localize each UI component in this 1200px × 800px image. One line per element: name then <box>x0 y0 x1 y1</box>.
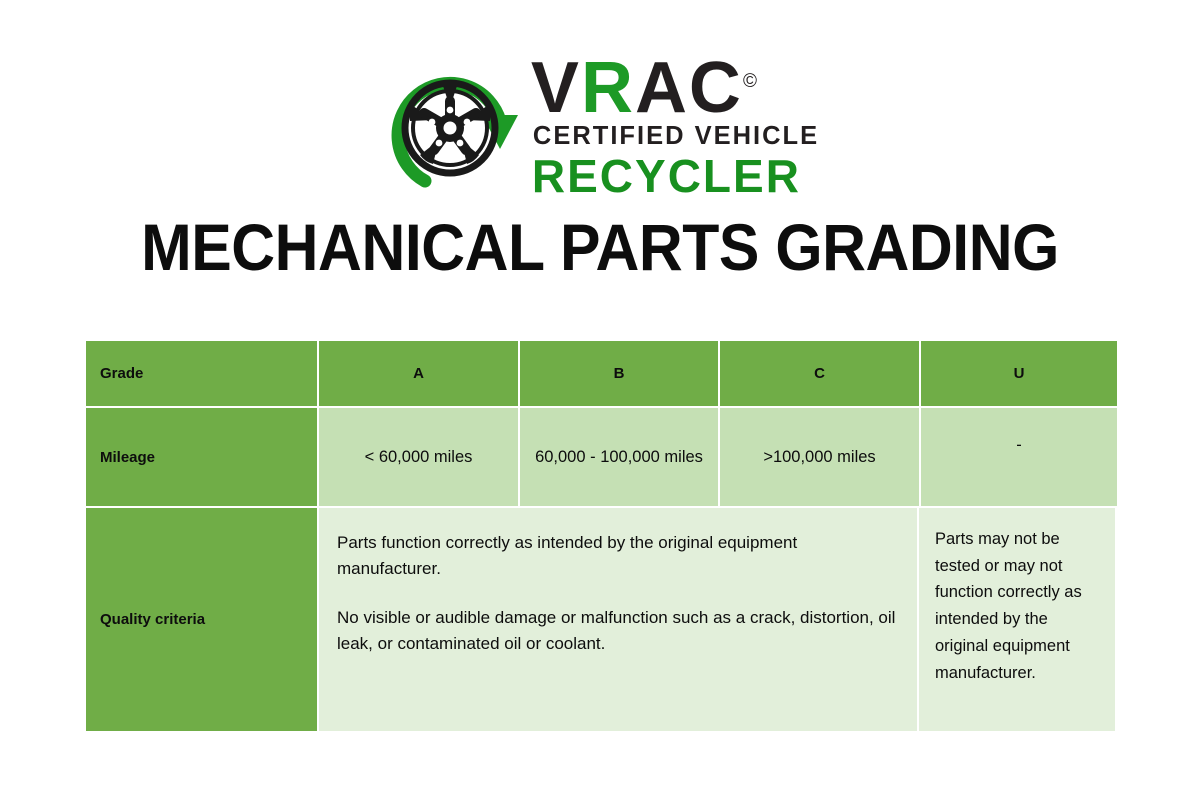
mileage-cell-b: 60,000 - 100,000 miles <box>520 408 718 506</box>
quality-cell-u: Parts may not be tested or may not funct… <box>919 508 1115 731</box>
quality-paragraph-1: Parts function correctly as intended by … <box>337 530 897 583</box>
logo-letter-v: V <box>531 48 581 128</box>
logo-wordmark: VRAC© CERTIFIED VEHICLE RECYCLER <box>531 55 819 198</box>
quality-u-paragraph: Parts may not be tested or may not funct… <box>935 526 1101 686</box>
logo-tagline: CERTIFIED VEHICLE <box>533 123 819 150</box>
header-cell-b: B <box>520 341 718 406</box>
row-label-quality-criteria: Quality criteria <box>86 508 317 731</box>
logo-vrac-text: VRAC© <box>531 57 819 120</box>
logo-recycler-text: RECYCLER <box>532 153 819 199</box>
vrac-logo: VRAC© CERTIFIED VEHICLE RECYCLER <box>0 52 1200 202</box>
mileage-cell-u: - <box>921 408 1117 506</box>
quality-cell-abc: Parts function correctly as intended by … <box>319 508 917 731</box>
table-header-row: Grade A B C U <box>86 341 1115 406</box>
logo-letter-r: R <box>581 48 635 128</box>
recycling-wheel-icon <box>381 57 521 197</box>
table-row-quality-criteria: Quality criteria Parts function correctl… <box>86 508 1115 731</box>
header-cell-u: U <box>921 341 1117 406</box>
row-label-mileage: Mileage <box>86 408 317 506</box>
header-cell-grade: Grade <box>86 341 317 406</box>
header-cell-c: C <box>720 341 919 406</box>
copyright-icon: © <box>743 71 757 92</box>
logo-inner: VRAC© CERTIFIED VEHICLE RECYCLER <box>381 55 819 198</box>
quality-paragraph-2: No visible or audible damage or malfunct… <box>337 605 897 658</box>
grading-chart-page: VRAC© CERTIFIED VEHICLE RECYCLER MECHANI… <box>0 0 1200 800</box>
logo-letters-ac: AC <box>635 48 743 128</box>
header-cell-a: A <box>319 341 518 406</box>
page-title: MECHANICAL PARTS GRADING <box>48 214 1152 280</box>
mileage-cell-c: >100,000 miles <box>720 408 919 506</box>
grading-table: Grade A B C U Mileage < 60,000 miles 60,… <box>86 341 1115 731</box>
table-row-mileage: Mileage < 60,000 miles 60,000 - 100,000 … <box>86 408 1115 506</box>
mileage-cell-a: < 60,000 miles <box>319 408 518 506</box>
